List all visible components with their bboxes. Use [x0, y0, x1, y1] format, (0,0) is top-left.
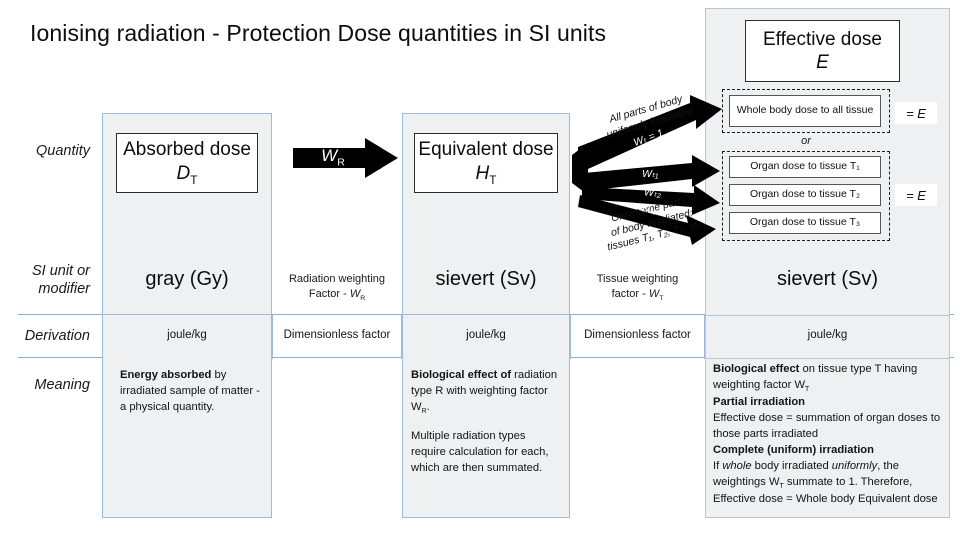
- fan-label-wt1: Wₜ₁: [642, 168, 658, 180]
- equals-e-whole-body: = E: [895, 102, 937, 124]
- or-separator-label: or: [722, 135, 890, 147]
- derivation-radiation-factor: Dimensionless factor: [272, 329, 402, 341]
- box-organ-dose-t2: Organ dose to tissue T₂: [729, 184, 881, 206]
- meaning-absorbed: Energy absorbed by irradiated sample of …: [120, 368, 260, 416]
- derivation-absorbed: joule/kg: [102, 329, 272, 341]
- meaning-equivalent-bold: Biological effect of: [411, 369, 511, 381]
- row-label-derivation: Derivation: [0, 327, 90, 345]
- concept-box-equivalent-dose: Equivalent dose HT: [414, 133, 558, 193]
- equals-e-organ-doses: = E: [895, 184, 937, 206]
- derivation-effective: joule/kg: [705, 329, 950, 341]
- row-label-quantity: Quantity: [0, 142, 90, 160]
- unit-absorbed: gray (Gy): [102, 268, 272, 291]
- meaning-effective: Biological effect on tissue type T havin…: [713, 362, 943, 508]
- row-label-si-unit-line1: SI unit or: [0, 262, 90, 280]
- box-whole-body-dose: Whole body dose to all tissue: [729, 95, 881, 127]
- absorbed-dose-symbol: DT: [177, 162, 198, 188]
- caption-radiation-line2: Factor - WR: [272, 287, 402, 303]
- concept-box-absorbed-dose: Absorbed dose DT: [116, 133, 258, 193]
- derivation-tissue-factor: Dimensionless factor: [570, 329, 705, 341]
- meaning-equivalent-p1: Biological effect of radiation type R wi…: [411, 368, 559, 417]
- box-organ-dose-t3: Organ dose to tissue T₃: [729, 212, 881, 234]
- unit-effective: sievert (Sv): [705, 268, 950, 291]
- caption-tissue-line2: factor - WT: [570, 287, 705, 303]
- row-label-meaning: Meaning: [0, 376, 90, 394]
- meaning-equivalent: Biological effect of radiation type R wi…: [411, 368, 559, 477]
- absorbed-dose-label: Absorbed dose: [123, 138, 251, 161]
- unit-equivalent: sievert (Sv): [402, 268, 570, 291]
- caption-radiation-weighting: Radiation weighting Factor - WR: [272, 272, 402, 303]
- equivalent-dose-label: Equivalent dose: [418, 138, 553, 161]
- meaning-equivalent-p2: Multiple radiation types require calcula…: [411, 429, 559, 477]
- arrow-label-wr: WR: [293, 146, 373, 168]
- meaning-effective-l5: If whole body irradiated uniformly, the …: [713, 459, 943, 508]
- box-organ-dose-t1: Organ dose to tissue T₁: [729, 156, 881, 178]
- meaning-effective-l4: Complete (uniform) irradiation: [713, 443, 943, 459]
- caption-tissue-line1: Tissue weighting: [570, 272, 705, 287]
- caption-tissue-weighting: Tissue weighting factor - WT: [570, 272, 705, 303]
- derivation-equivalent: joule/kg: [402, 329, 570, 341]
- meaning-effective-l3: Effective dose = summation of organ dose…: [713, 411, 943, 443]
- row-label-si-unit-line2: modifier: [0, 280, 90, 298]
- arrow-radiation-weighting: WR: [293, 138, 398, 178]
- meaning-effective-l2: Partial irradiation: [713, 395, 943, 411]
- page-title: Ionising radiation - Protection Dose qua…: [30, 20, 606, 47]
- equivalent-dose-symbol: HT: [476, 162, 497, 188]
- meaning-effective-l1: Biological effect on tissue type T havin…: [713, 362, 943, 395]
- caption-radiation-line1: Radiation weighting: [272, 272, 402, 287]
- concept-box-effective-dose: Effective dose E: [745, 20, 900, 82]
- fan-label-wt2: Wₜ₂: [644, 186, 662, 199]
- meaning-absorbed-bold: Energy absorbed: [120, 369, 211, 381]
- effective-dose-symbol: E: [816, 51, 829, 74]
- diagram-canvas: Ionising radiation - Protection Dose qua…: [0, 0, 960, 535]
- effective-dose-label: Effective dose: [763, 28, 882, 51]
